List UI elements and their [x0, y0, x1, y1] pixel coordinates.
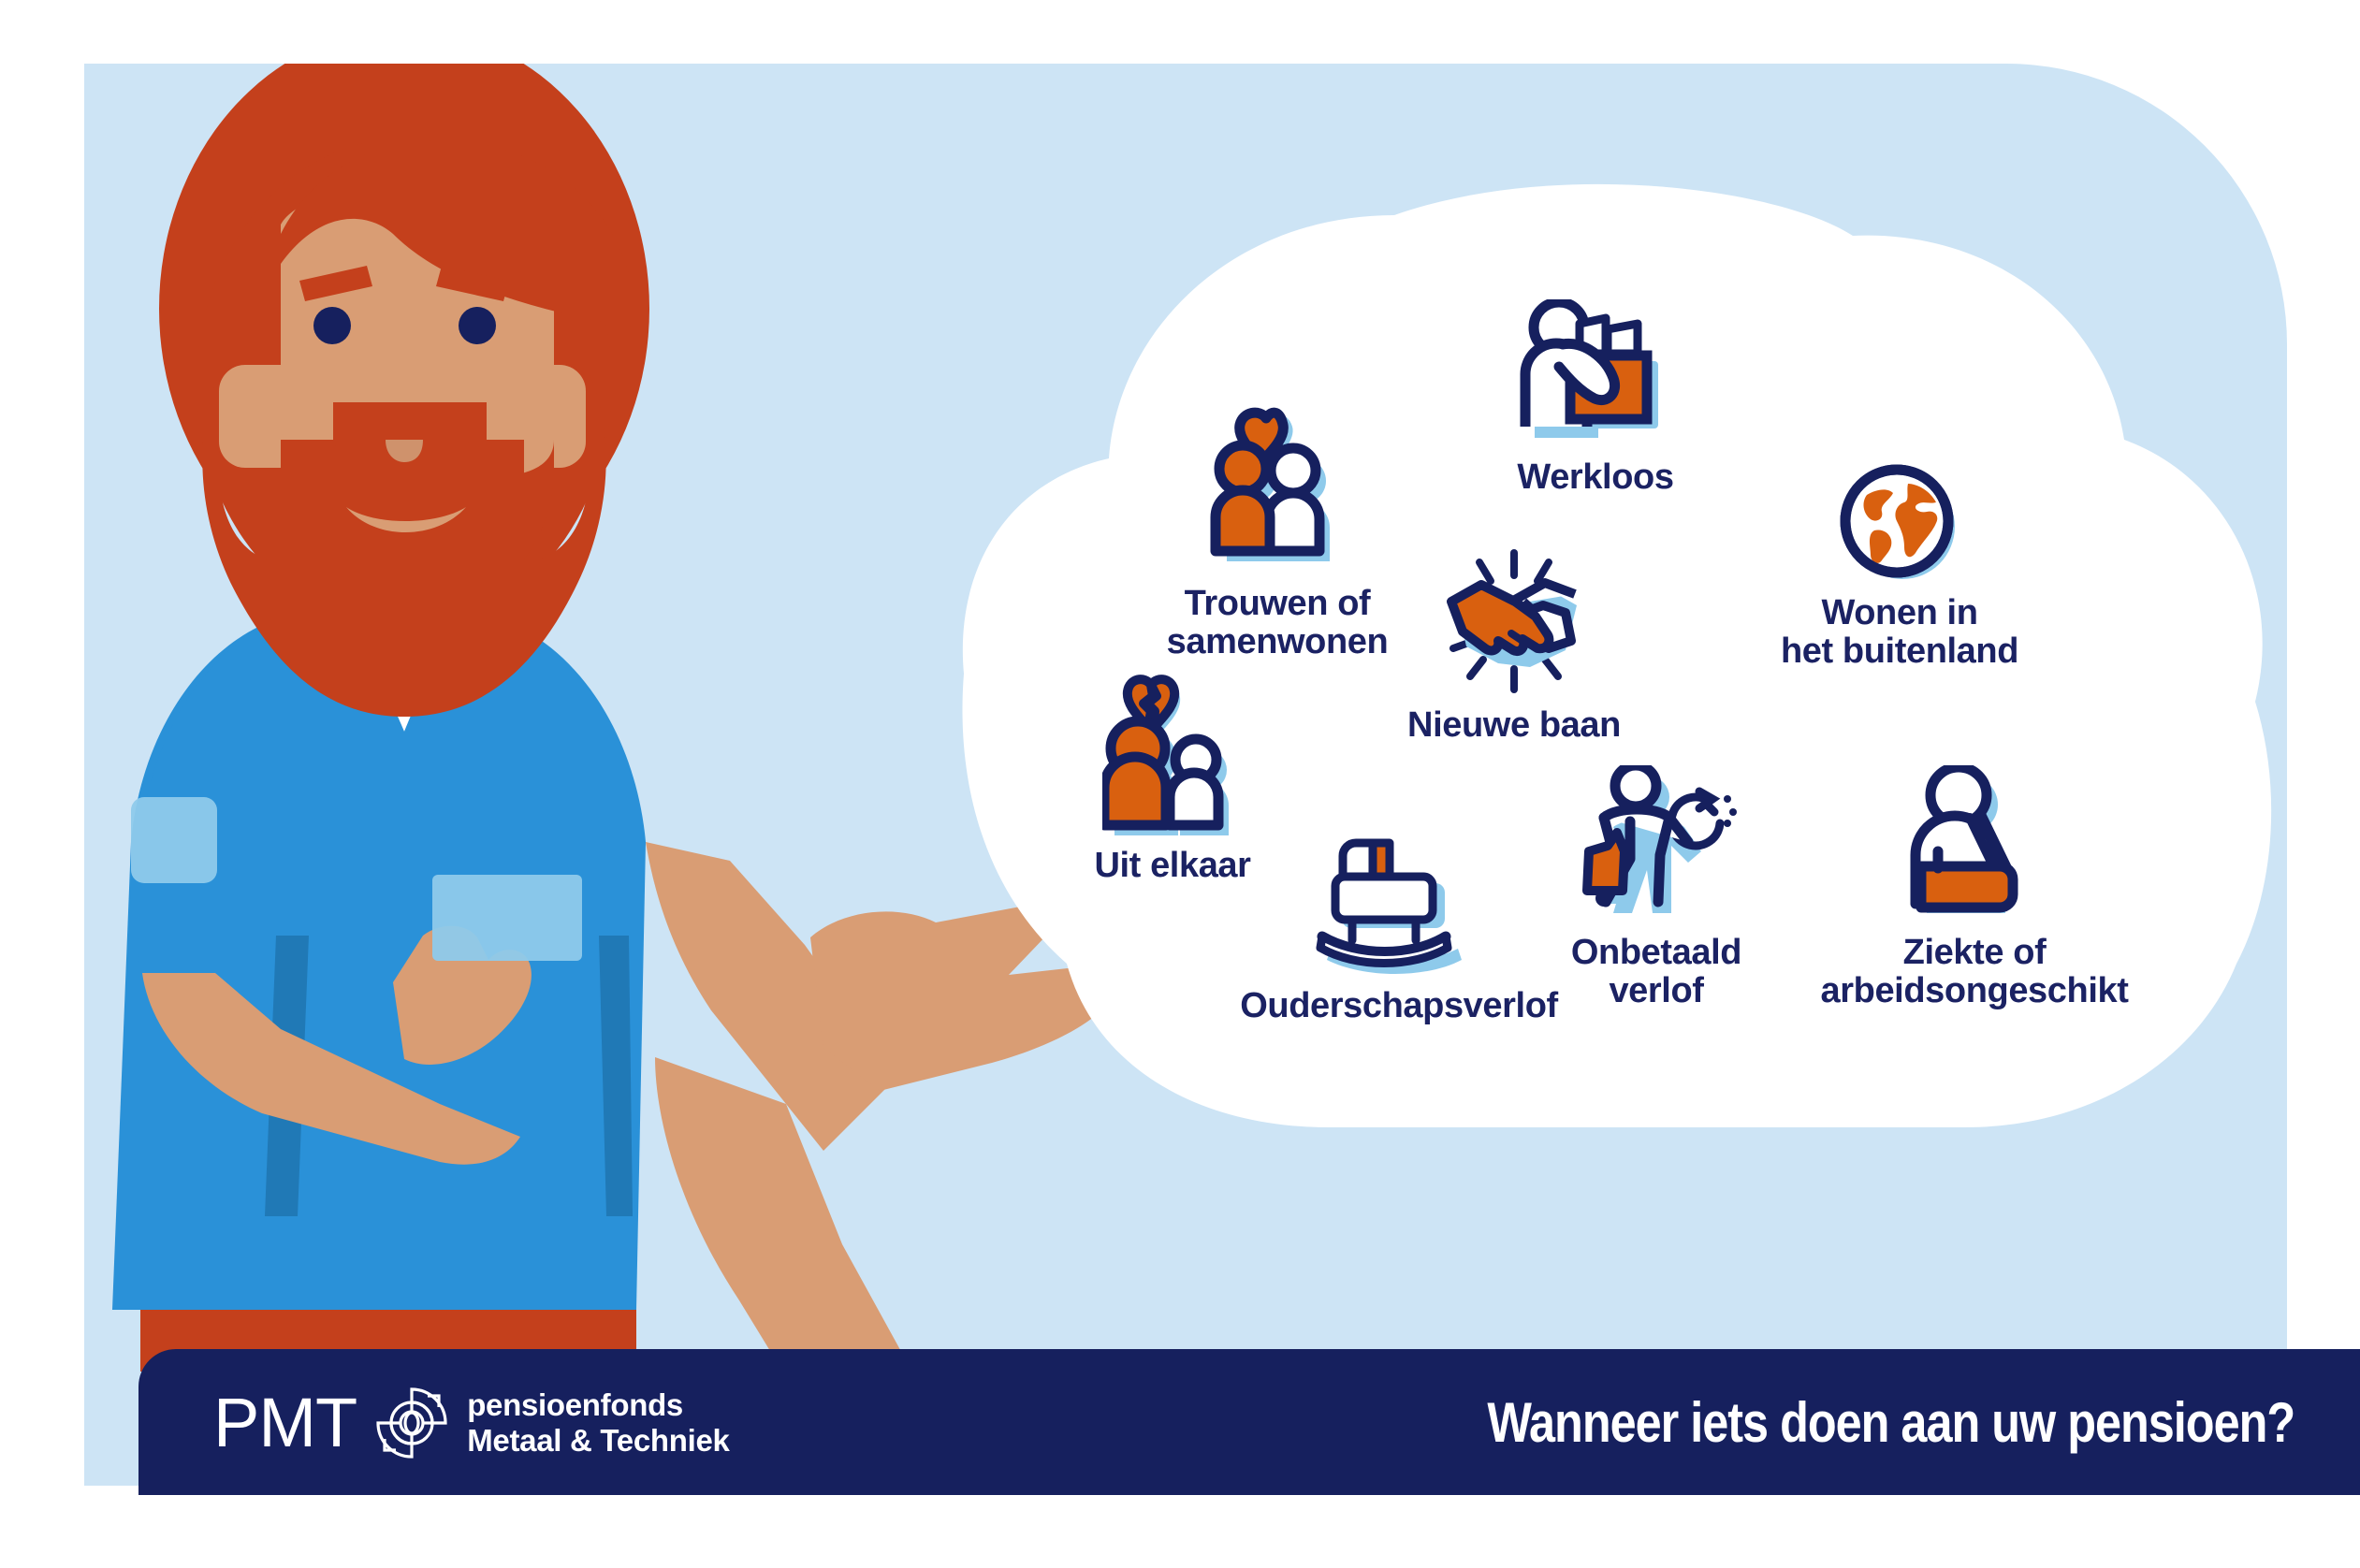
life-event-wonen[interactable]: Wonen in het buitenland [1736, 463, 2063, 671]
eye-right [459, 307, 496, 344]
life-event-label: Wonen in het buitenland [1781, 594, 2018, 671]
person-arm-sling-icon [1904, 765, 2045, 924]
chest-badge [432, 875, 582, 961]
poster-headline: Wanneer iets doen aan uw pensioen? [1487, 1390, 2294, 1455]
brand-line-2: Metaal & Techniek [467, 1423, 729, 1459]
cradle-icon [1315, 837, 1483, 978]
poster-canvas: Trouwen of samenwonen Werkloos [0, 0, 2360, 1568]
handshake-icon [1425, 547, 1603, 697]
brand-lockup[interactable]: PMT pensioenfonds Metaal [213, 1385, 730, 1461]
globe-icon [1839, 463, 1960, 585]
person-carrying-box-icon [1516, 299, 1675, 449]
eye-left [313, 307, 351, 344]
life-event-werkloos[interactable]: Werkloos [1455, 299, 1736, 497]
life-event-label: Werkloos [1517, 458, 1673, 497]
brand-line-1: pensioenfonds [467, 1387, 729, 1423]
traveller-with-clock-icon [1572, 765, 1741, 924]
life-event-label: Ouderschapsverlof [1240, 987, 1558, 1025]
life-event-nieuwe-baan[interactable]: Nieuwe baan [1383, 547, 1645, 745]
life-event-label: Trouwen of samenwonen [1167, 585, 1389, 661]
couple-broken-heart-icon [1102, 674, 1243, 837]
couple-with-heart-icon [1207, 407, 1348, 575]
life-event-ziekte[interactable]: Ziekte of arbeidsongeschikt [1806, 765, 2143, 1010]
pmt-radial-emblem-icon [373, 1385, 450, 1461]
life-event-label: Onbetaald verlof [1571, 934, 1741, 1010]
life-event-label: Nieuwe baan [1407, 706, 1621, 745]
life-event-onbetaald-verlof[interactable]: Onbetaald verlof [1535, 765, 1778, 1010]
footer-bar: PMT pensioenfonds Metaal [138, 1349, 2360, 1495]
life-event-ouderschapsverlof[interactable]: Ouderschapsverlof [1231, 837, 1567, 1025]
sleeve-patch [131, 797, 217, 883]
pmt-wordmark: PMT [213, 1388, 357, 1458]
life-event-label: Uit elkaar [1094, 847, 1250, 885]
life-event-label: Ziekte of arbeidsongeschikt [1821, 934, 2129, 1010]
